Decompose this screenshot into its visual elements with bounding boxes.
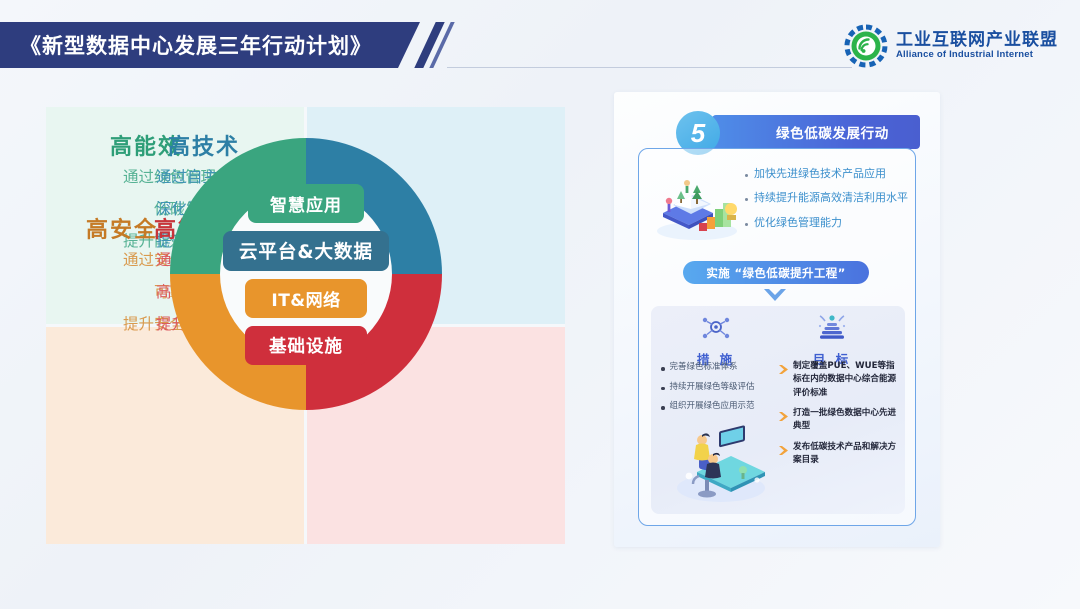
goal-text: 制定覆盖PUE、WUE等指标在内的数据中心综合能源评价标准	[793, 360, 901, 400]
top-bullet-text: 优化绿色管理能力	[754, 216, 842, 230]
center-pill-stack: 智慧应用 云平台&大数据 IT&网络 基础设施	[170, 138, 442, 410]
list-item: 持续开展绿色等级评估	[661, 382, 779, 393]
implementation-label: 实施 “绿色低碳提升工程”	[706, 265, 845, 281]
arrow-right-icon	[779, 409, 788, 420]
logo: 工业互联网产业联盟 Alliance of Industrial Interne…	[844, 24, 1058, 68]
logo-title-en: Alliance of Industrial Internet	[896, 50, 1058, 60]
quadrant-heading-high-security: 高安全	[86, 212, 158, 244]
goal-text: 发布低碳技术产品和解决方案目录	[793, 441, 901, 468]
logo-title-cn: 工业互联网产业联盟	[896, 32, 1058, 50]
pill-it-network: IT&网络	[245, 279, 366, 318]
pill-smart-application: 智慧应用	[248, 184, 364, 223]
chevron-down-icon	[764, 289, 786, 303]
logo-text: 工业互联网产业联盟 Alliance of Industrial Interne…	[896, 32, 1058, 60]
bullet-dot-icon	[745, 198, 748, 201]
target-tower-icon	[815, 314, 849, 347]
bullet-dot-icon	[661, 406, 665, 410]
list-item: 完善绿色标准体系	[661, 362, 779, 373]
top-bullet-text: 加快先进绿色技术产品应用	[754, 167, 886, 181]
arrow-right-icon	[779, 443, 788, 454]
top-bullet-list: 加快先进绿色技术产品应用 持续提升能源高效清洁利用水平 优化绿色管理能力	[745, 167, 907, 230]
implementation-banner: 实施 “绿色低碳提升工程”	[683, 261, 869, 284]
section-title: 绿色低碳发展行动	[776, 122, 889, 142]
green-low-carbon-card: 绿色低碳发展行动 5	[614, 92, 940, 547]
card-body: 加快先进绿色技术产品应用 持续提升能源高效清洁利用水平 优化绿色管理能力 实施 …	[638, 148, 916, 526]
title-ribbon: 《新型数据中心发展三年行动计划》	[0, 22, 420, 68]
list-item: 持续提升能源高效清洁利用水平	[745, 191, 907, 205]
measure-text: 组织开展绿色应用示范	[670, 401, 755, 412]
list-item: 制定覆盖PUE、WUE等指标在内的数据中心综合能源评价标准	[779, 360, 901, 400]
goal-text: 打造一批绿色数据中心先进典型	[793, 407, 901, 434]
list-item: 发布低碳技术产品和解决方案目录	[779, 441, 901, 468]
list-item: 加快先进绿色技术产品应用	[745, 167, 907, 181]
measure-text: 持续开展绿色等级评估	[670, 382, 755, 393]
goals-list: 制定覆盖PUE、WUE等指标在内的数据中心综合能源评价标准 打造一批绿色数据中心…	[779, 360, 901, 467]
pill-cloud-platform-bigdata: 云平台&大数据	[223, 231, 389, 271]
list-item: 优化绿色管理能力	[745, 216, 907, 230]
section-number: 5	[691, 120, 705, 146]
bullet-dot-icon	[661, 367, 665, 371]
gear-wifi-icon	[844, 24, 888, 68]
measures-goals-box: 措 施 目 标	[651, 306, 905, 514]
header-divider	[447, 67, 852, 68]
bullet-dot-icon	[661, 387, 665, 391]
laptop-green-chart-illustration	[653, 165, 741, 243]
four-pillar-diagram: 高能效 通过绿色管理 低碳发展 提升能效水平 高技术 通过自主研发 深化协同 提…	[46, 107, 565, 544]
donut-ring: 智慧应用 云平台&大数据 IT&网络 基础设施	[170, 138, 442, 410]
arrow-right-icon	[779, 362, 788, 373]
page-title: 《新型数据中心发展三年行动计划》	[20, 30, 372, 60]
bullet-dot-icon	[745, 223, 748, 226]
measures-column-header: 措 施	[679, 314, 753, 368]
top-bullet-text: 持续提升能源高效清洁利用水平	[754, 191, 908, 205]
pill-infrastructure: 基础设施	[245, 326, 367, 365]
office-workers-desk-illustration	[669, 414, 773, 506]
molecule-network-icon	[701, 314, 731, 347]
section-title-bar: 绿色低碳发展行动	[712, 115, 920, 149]
measure-text: 完善绿色标准体系	[670, 362, 738, 373]
list-item: 组织开展绿色应用示范	[661, 401, 779, 412]
measures-list: 完善绿色标准体系 持续开展绿色等级评估 组织开展绿色应用示范	[661, 362, 779, 412]
list-item: 打造一批绿色数据中心先进典型	[779, 407, 901, 434]
bullet-dot-icon	[745, 174, 748, 177]
